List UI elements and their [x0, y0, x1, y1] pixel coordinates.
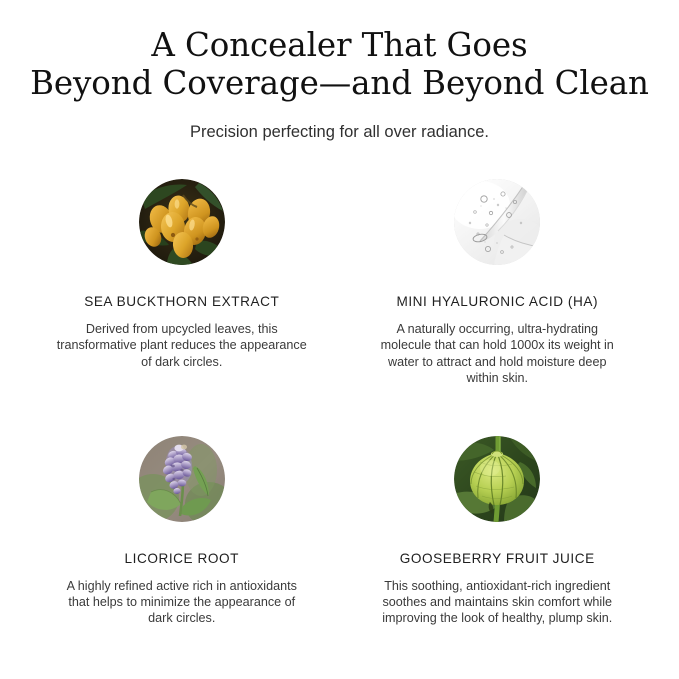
ingredient-card-gooseberry: GOOSEBERRY FRUIT JUICE This soothing, an…: [340, 436, 656, 627]
header: A Concealer That Goes Beyond Coverage—an…: [24, 26, 655, 143]
licorice-root-flower-photo: [139, 436, 225, 522]
ingredient-description: A highly refined active rich in antioxid…: [56, 578, 308, 627]
ingredient-title: GOOSEBERRY FRUIT JUICE: [400, 551, 595, 567]
ingredient-title: LICORICE ROOT: [125, 551, 239, 567]
ingredient-grid: SEA BUCKTHORN EXTRACT Derived from upcyc…: [24, 179, 655, 627]
gooseberry-husk-photo: [454, 436, 540, 522]
hyaluronic-acid-gel-texture-photo: [454, 179, 540, 265]
ingredient-title: SEA BUCKTHORN EXTRACT: [84, 294, 279, 310]
headline-line-2: Beyond Coverage—and Beyond Clean: [24, 64, 655, 102]
ingredient-benefits-panel: A Concealer That Goes Beyond Coverage—an…: [0, 0, 679, 679]
ingredient-description: Derived from upcycled leaves, this trans…: [56, 321, 308, 370]
sea-buckthorn-berries-photo: [139, 179, 225, 265]
ingredient-description: A naturally occurring, ultra-hydrating m…: [371, 321, 623, 387]
ingredient-card-licorice-root: LICORICE ROOT A highly refined active ri…: [24, 436, 340, 627]
ingredient-title: MINI HYALURONIC ACID (HA): [396, 294, 598, 310]
subtitle: Precision perfecting for all over radian…: [24, 121, 655, 143]
ingredient-card-sea-buckthorn: SEA BUCKTHORN EXTRACT Derived from upcyc…: [24, 179, 340, 387]
headline-line-1: A Concealer That Goes: [24, 26, 655, 64]
ingredient-card-hyaluronic-acid: MINI HYALURONIC ACID (HA) A naturally oc…: [340, 179, 656, 387]
page-title: A Concealer That Goes Beyond Coverage—an…: [24, 26, 655, 102]
ingredient-description: This soothing, antioxidant-rich ingredie…: [371, 578, 623, 627]
